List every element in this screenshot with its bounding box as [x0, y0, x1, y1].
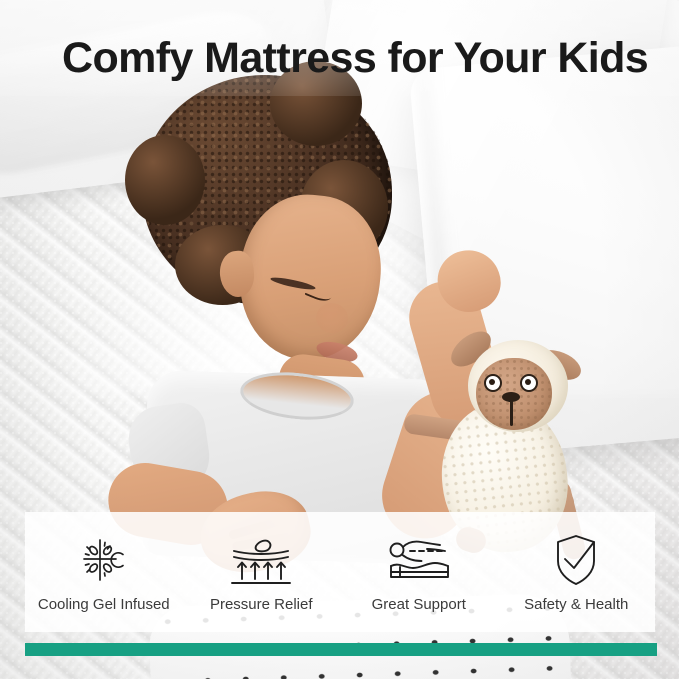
shield-check-icon — [552, 532, 600, 588]
feature-label: Great Support — [372, 596, 466, 613]
lamb-eye — [484, 374, 502, 392]
feature-cooling-gel-infused: Cooling Gel Infused — [25, 512, 183, 613]
hair-curl — [125, 135, 205, 225]
feature-safety-health: Safety & Health — [498, 512, 656, 613]
sleeping-child — [120, 75, 480, 530]
feature-bar: Cooling Gel Infused Pressure Relief — [25, 512, 655, 632]
lamb-mouth — [510, 400, 513, 426]
pressure-arrows-icon — [230, 532, 292, 588]
feature-label: Cooling Gel Infused — [38, 596, 170, 613]
feature-label: Safety & Health — [524, 596, 628, 613]
feature-great-support: Great Support — [340, 512, 498, 613]
feature-label: Pressure Relief — [210, 596, 313, 613]
page-title: Comfy Mattress for Your Kids — [62, 33, 662, 83]
snowflake-celsius-icon — [79, 532, 129, 588]
lamb-eye — [520, 374, 538, 392]
accent-bar — [25, 643, 657, 656]
product-ad-image: Comfy Mattress for Your Kids — [0, 0, 679, 679]
body-on-mattress-icon — [386, 532, 452, 588]
feature-pressure-relief: Pressure Relief — [183, 512, 341, 613]
